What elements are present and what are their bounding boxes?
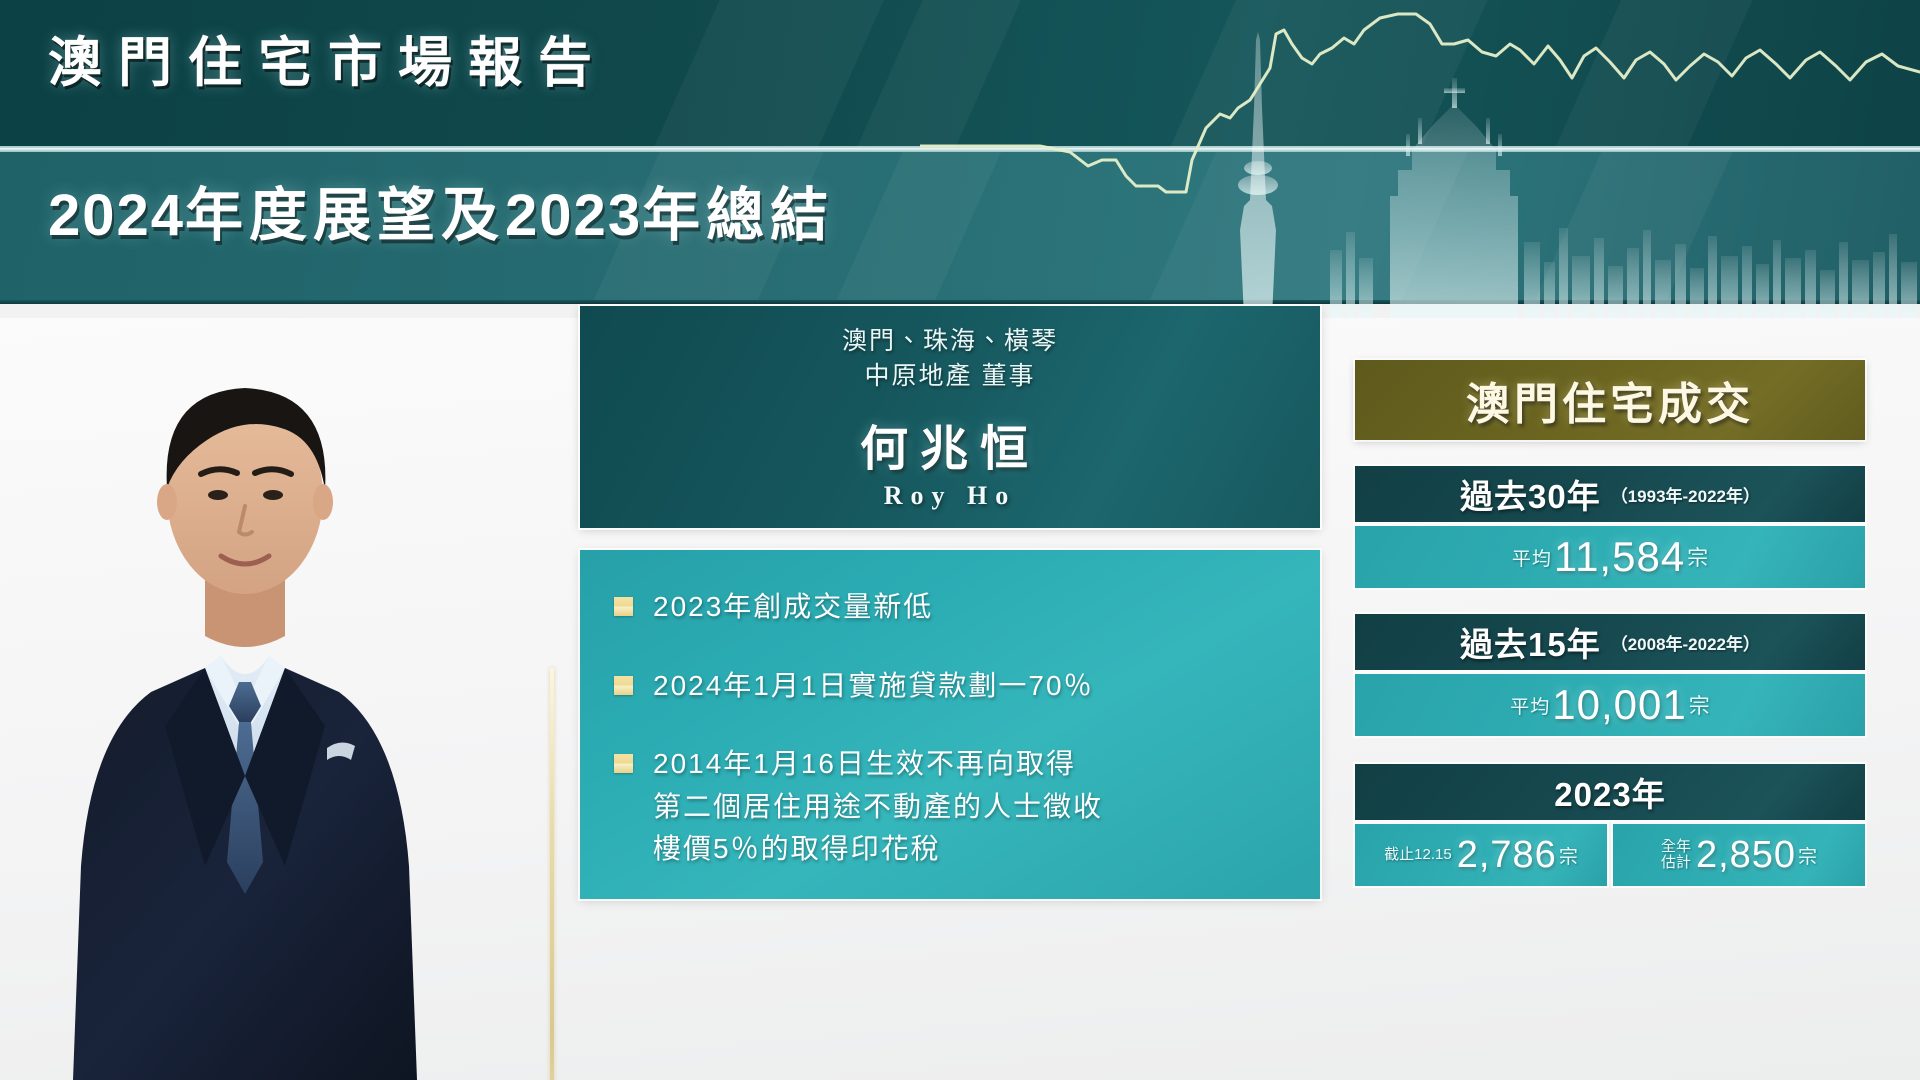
stat-2023-split-row: 截止12.15 2,786 宗 全年 估計 2,850 宗: [1355, 824, 1865, 886]
square-bullet-icon: [614, 754, 633, 773]
stat-head-15y-main: 過去15年: [1460, 618, 1601, 666]
speaker-name-card: 澳門、珠海、橫琴 中原地產 董事 何兆恒 Roy Ho: [580, 306, 1320, 528]
subtitle-year-2024: 2024: [48, 183, 185, 248]
stats-panel-title: 澳門住宅成交: [1355, 360, 1865, 440]
bullet-text-1: 2023年創成交量新低: [653, 586, 933, 629]
stat-2023-forecast-unit: 宗: [1798, 842, 1817, 869]
stat-head-2023: 2023年: [1355, 764, 1865, 820]
page-title: 澳門住宅市場報告: [48, 18, 608, 97]
stat-head-30y-range: （1993年-2022年）: [1611, 482, 1760, 507]
ruins-of-st-pauls-icon: [1390, 78, 1518, 318]
stat-block-15y: 過去15年 （2008年-2022年） 平均 10,001 宗: [1355, 614, 1865, 736]
stat-2023-ytd-label-line-1: 截止12.15: [1384, 847, 1452, 863]
stat-2023-ytd-cell: 截止12.15 2,786 宗: [1355, 824, 1607, 886]
stat-2023-ytd-value: 2,786: [1457, 834, 1557, 877]
stat-head-2023-main: 2023年: [1554, 768, 1665, 816]
speaker-org-line-2: 中原地產 董事: [865, 359, 1036, 395]
square-bullet-icon: [614, 597, 633, 616]
stat-2023-forecast-cell: 全年 估計 2,850 宗: [1613, 824, 1865, 886]
stat-head-30y-main: 過去30年: [1460, 470, 1601, 518]
stat-head-15y: 過去15年 （2008年-2022年）: [1355, 614, 1865, 670]
speaker-name-english: Roy Ho: [884, 481, 1017, 511]
square-bullet-icon: [614, 676, 633, 695]
bullet-3-line-3: 樓價5％的取得印花稅: [653, 828, 1103, 871]
stat-2023-forecast-label-line-2: 估計: [1661, 855, 1691, 871]
stat-30y-label: 平均: [1512, 544, 1552, 571]
stat-head-15y-range: （2008年-2022年）: [1611, 630, 1760, 655]
bullet-3-line-1: 2014年1月16日生效不再向取得: [653, 743, 1103, 786]
stat-2023-forecast-label-line-1: 全年: [1661, 839, 1691, 855]
bullet-text-2: 2024年1月1日實施貸款劃一70％: [653, 665, 1094, 708]
stat-2023-ytd-label: 截止12.15: [1384, 847, 1452, 863]
header-artwork: [920, 0, 1920, 318]
stats-panel: 澳門住宅成交 過去30年 （1993年-2022年） 平均 11,584 宗 過…: [1355, 360, 1865, 886]
page-subtitle: 2024年度展望及2023年總結: [48, 168, 834, 252]
bullet-1-line-1: 2023年創成交量新低: [653, 586, 933, 629]
bullet-text-3: 2014年1月16日生效不再向取得 第二個居住用途不動產的人士徵收 樓價5％的取…: [653, 743, 1103, 871]
stat-30y-value: 11,584: [1554, 533, 1685, 581]
stat-head-30y: 過去30年 （1993年-2022年）: [1355, 466, 1865, 522]
bullet-3-line-2: 第二個居住用途不動產的人士徵收: [653, 786, 1103, 829]
stat-30y-unit: 宗: [1687, 542, 1708, 572]
stat-15y-value: 10,001: [1552, 681, 1686, 729]
center-column: 澳門、珠海、橫琴 中原地產 董事 何兆恒 Roy Ho 2023年創成交量新低 …: [580, 306, 1320, 899]
macau-tower-icon: [1238, 32, 1278, 318]
slide-body: 澳門、珠海、橫琴 中原地產 董事 何兆恒 Roy Ho 2023年創成交量新低 …: [0, 318, 1920, 1080]
vertical-divider: [550, 668, 554, 1080]
stat-body-15y: 平均 10,001 宗: [1355, 674, 1865, 736]
stat-2023-forecast-label: 全年 估計: [1661, 839, 1691, 871]
page-header: 澳門住宅市場報告 2024年度展望及2023年總結: [0, 0, 1920, 318]
stat-2023-forecast-value: 2,850: [1696, 834, 1796, 877]
stats-panel-title-label: 澳門住宅成交: [1466, 368, 1754, 432]
list-item: 2024年1月1日實施貸款劃一70％: [614, 665, 1290, 708]
subtitle-tail-text: 年總結: [642, 183, 834, 248]
bullet-2-line-1: 2024年1月1日實施貸款劃一70％: [653, 665, 1094, 708]
stat-2023-ytd-unit: 宗: [1559, 842, 1578, 869]
key-points-card: 2023年創成交量新低 2024年1月1日實施貸款劃一70％ 2014年1月16…: [580, 550, 1320, 899]
stat-15y-label: 平均: [1510, 692, 1550, 719]
stat-block-30y: 過去30年 （1993年-2022年） 平均 11,584 宗: [1355, 466, 1865, 588]
subtitle-mid-text: 年度展望及: [185, 183, 505, 248]
list-item: 2014年1月16日生效不再向取得 第二個居住用途不動產的人士徵收 樓價5％的取…: [614, 743, 1290, 871]
stat-block-2023: 2023年 截止12.15 2,786 宗 全年 估計 2,850 宗: [1355, 764, 1865, 886]
speaker-name-chinese: 何兆恒: [860, 409, 1040, 479]
stat-body-30y: 平均 11,584 宗: [1355, 526, 1865, 588]
subtitle-year-2023: 2023: [505, 183, 642, 248]
stat-15y-unit: 宗: [1689, 690, 1710, 720]
speaker-org-line-1: 澳門、珠海、橫琴: [842, 324, 1058, 360]
speaker-photo: [55, 306, 435, 1080]
list-item: 2023年創成交量新低: [614, 586, 1290, 629]
